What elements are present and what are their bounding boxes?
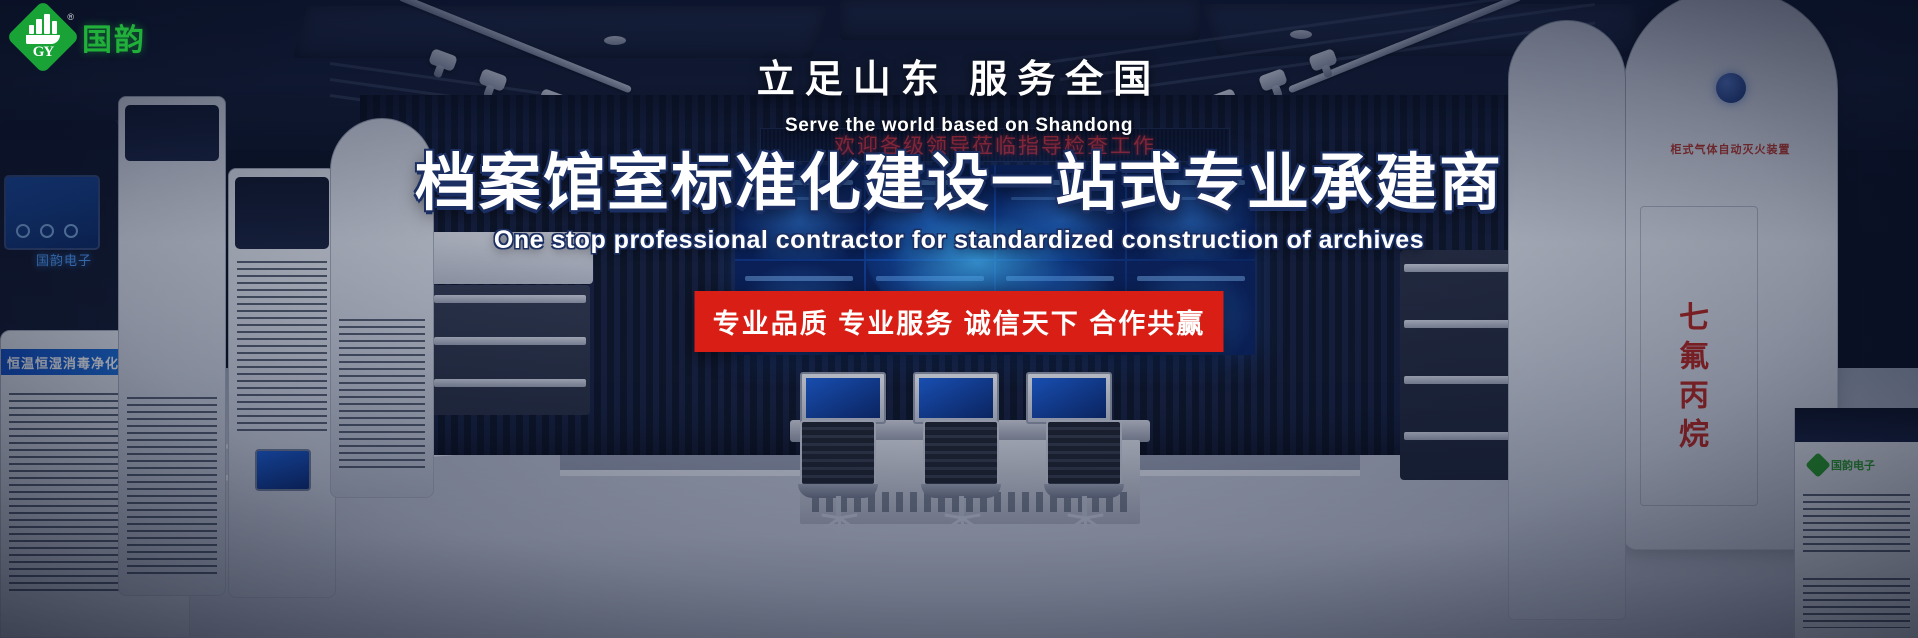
air-handling-unit <box>330 118 434 498</box>
hero-banner: 欢迎各级领导莅临指导检查工作 <box>0 0 1918 638</box>
equipment-cabinet <box>228 168 336 598</box>
fire-cabinet-top-label: 柜式气体自动灭火装置 <box>1671 141 1791 157</box>
office-chair <box>915 420 1007 538</box>
registered-trademark-icon: ® <box>67 12 74 22</box>
led-ticker-board: 欢迎各级领导莅临指导检查工作 <box>760 128 1230 162</box>
desk-monitor <box>913 372 999 424</box>
brand-diamond-icon <box>1805 452 1830 477</box>
ceiling-panel <box>293 6 828 58</box>
smoke-detector-icon <box>1290 30 1312 39</box>
slogan-text: 专业品质 专业服务 诚信天下 合作共赢 <box>713 302 1206 341</box>
equipment-brand-logo: 国韵电子 <box>1809 456 1875 474</box>
spotlight-icon <box>1258 68 1288 92</box>
left-cabinet-brand-label: 国韵电子 <box>36 250 92 269</box>
site-logo[interactable]: GY ® 国韵 <box>14 8 146 66</box>
equipment-cabinet <box>118 96 226 596</box>
fire-cabinet-vertical-label: 七氟丙烷 <box>1668 301 1712 457</box>
cabinet-display <box>255 449 311 491</box>
logo-mark-text: GY <box>33 45 54 60</box>
cabinet-knob-icon <box>1716 73 1746 103</box>
video-wall-cell <box>735 165 864 259</box>
right-column-cabinet <box>1508 20 1626 620</box>
spotlight-icon <box>478 68 508 92</box>
smoke-detector-icon <box>604 36 626 45</box>
logo-wordmark: 国韵 <box>82 15 146 59</box>
video-wall-cell <box>1127 165 1256 259</box>
equipment-brand-label: 国韵电子 <box>1831 457 1875 473</box>
shelving-unit <box>430 285 590 415</box>
slogan-banner: 专业品质 专业服务 诚信天下 合作共赢 <box>695 291 1224 352</box>
ceiling-panel <box>840 0 1200 40</box>
office-chair <box>792 420 884 538</box>
left-cabinet-touch-screen <box>4 175 100 250</box>
desk-monitor <box>800 372 886 424</box>
office-chair <box>1038 420 1130 538</box>
gy-diamond-building-logo-icon: GY ® <box>14 8 72 66</box>
desk-monitor <box>1026 372 1112 424</box>
right-low-equipment: 国韵电子 <box>1794 408 1918 638</box>
led-ticker-text: 欢迎各级领导莅临指导检查工作 <box>834 130 1156 160</box>
